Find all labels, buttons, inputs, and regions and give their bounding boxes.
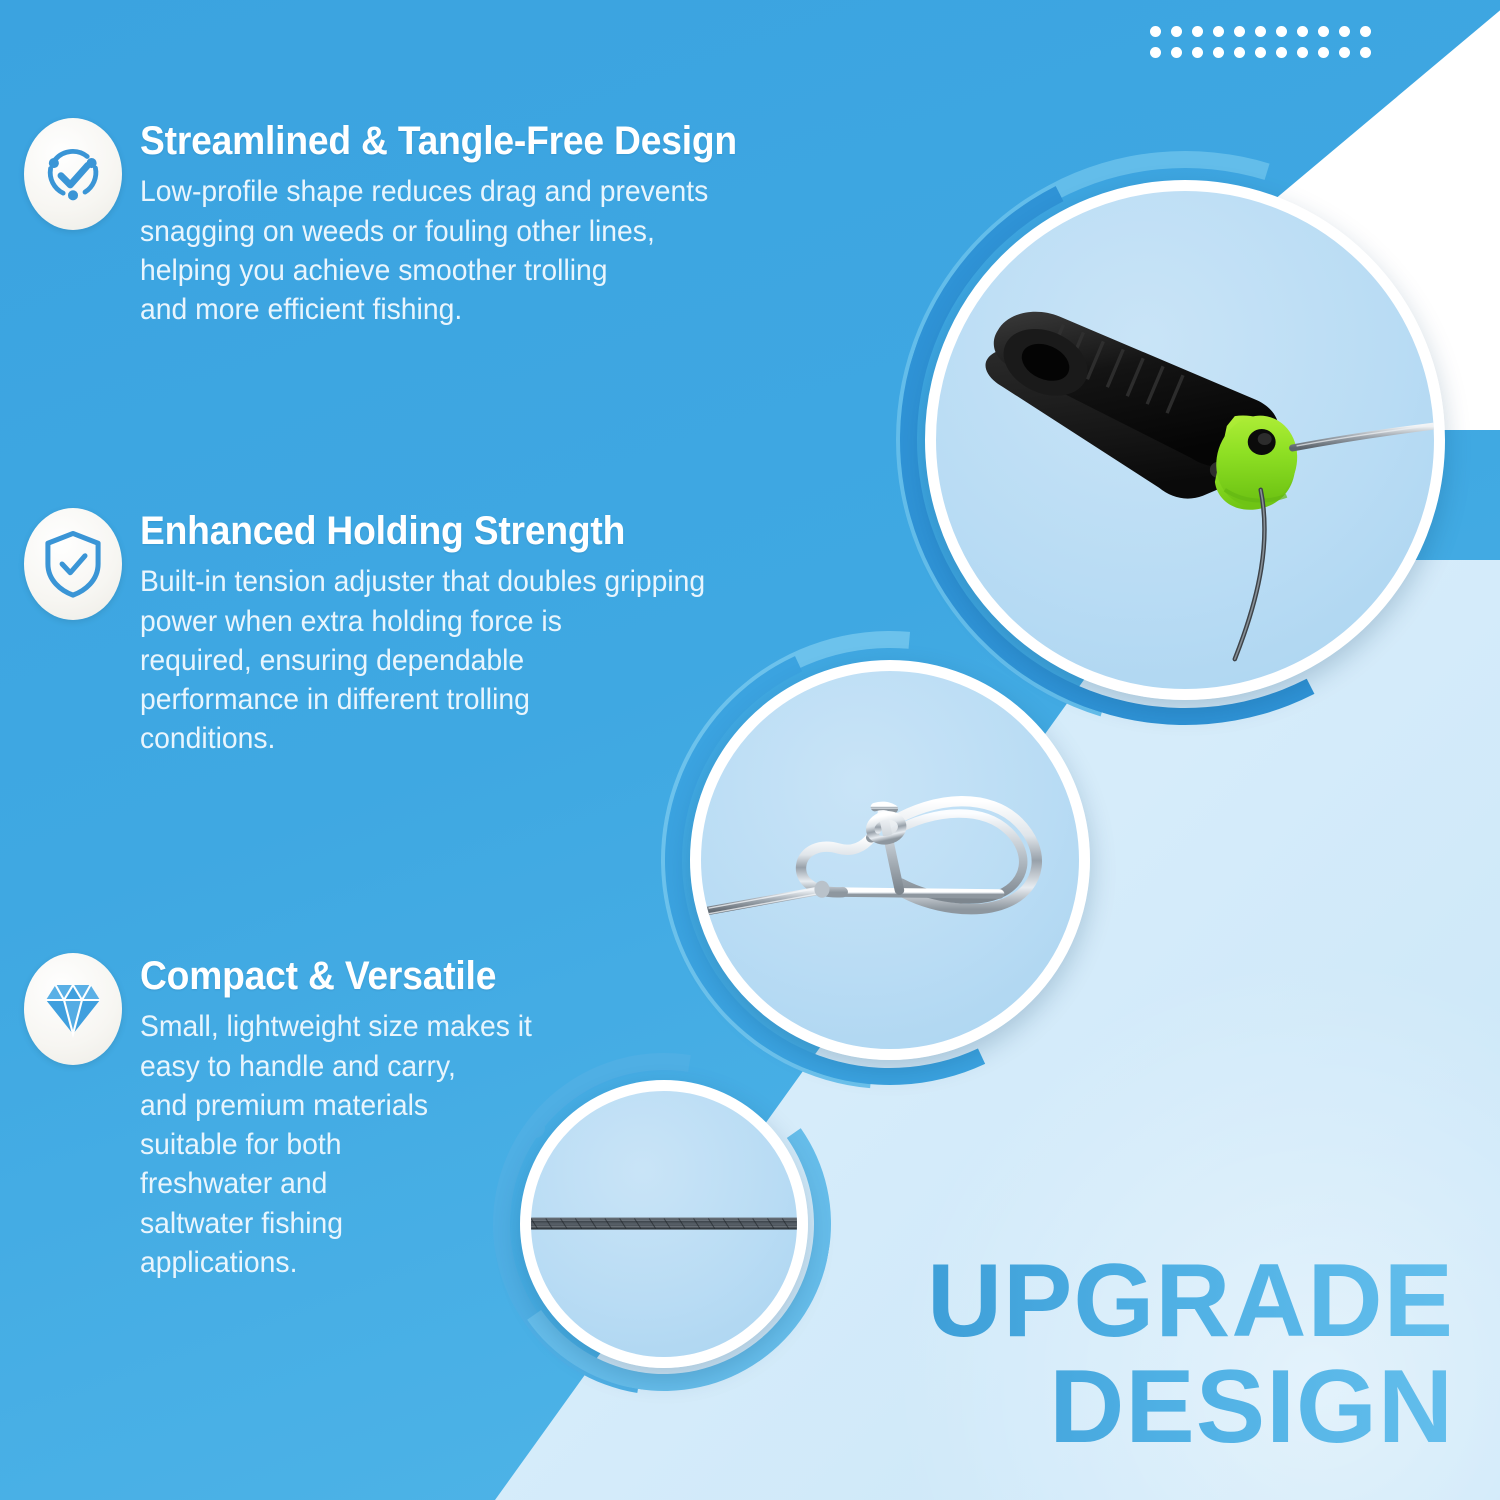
dot: [1339, 47, 1350, 58]
dot: [1276, 47, 1287, 58]
dot: [1213, 47, 1224, 58]
dot: [1318, 26, 1329, 37]
feature-text-compact-versatile: Compact & Versatile Small, lightweight s…: [140, 953, 684, 1282]
dot: [1234, 47, 1245, 58]
dot: [1192, 47, 1203, 58]
diamond-icon: [24, 953, 122, 1065]
feature-body: Low-profile shape reduces drag and preve…: [140, 172, 854, 329]
headline-line-1: UPGRADE: [927, 1252, 1454, 1352]
dot: [1150, 47, 1161, 58]
feature-text-streamlined: Streamlined & Tangle-Free Design Low-pro…: [140, 118, 884, 329]
shield-check-icon: [24, 508, 122, 620]
feature-block-streamlined: Streamlined & Tangle-Free Design Low-pro…: [24, 118, 884, 329]
dot: [1171, 47, 1182, 58]
dot: [1255, 47, 1266, 58]
dot: [1318, 47, 1329, 58]
headline-line-2: DESIGN: [927, 1358, 1454, 1458]
dot-grid-decoration: [1150, 26, 1381, 68]
dot: [1297, 47, 1308, 58]
feature-block-holding-strength: Enhanced Holding Strength Built-in tensi…: [24, 508, 864, 759]
dot: [1276, 26, 1287, 37]
dot: [1192, 26, 1203, 37]
dot: [1255, 26, 1266, 37]
feature-body: Built-in tension adjuster that doubles g…: [140, 562, 835, 758]
dot: [1297, 26, 1308, 37]
dot: [1339, 26, 1350, 37]
feature-text-holding-strength: Enhanced Holding Strength Built-in tensi…: [140, 508, 864, 759]
dot: [1234, 26, 1245, 37]
feature-block-compact-versatile: Compact & Versatile Small, lightweight s…: [24, 953, 684, 1282]
feature-title: Compact & Versatile: [140, 955, 646, 997]
network-check-icon: [24, 118, 122, 230]
headline-upgrade-design: UPGRADE DESIGN: [927, 1252, 1454, 1458]
feature-title: Streamlined & Tangle-Free Design: [140, 120, 832, 162]
dot: [1213, 26, 1224, 37]
product-infographic: Streamlined & Tangle-Free Design Low-pro…: [0, 0, 1500, 1500]
dot: [1171, 26, 1182, 37]
dot: [1150, 26, 1161, 37]
dot: [1360, 26, 1371, 37]
feature-title: Enhanced Holding Strength: [140, 510, 813, 552]
dot: [1360, 47, 1371, 58]
release-clip-photo: [925, 180, 1445, 700]
feature-body: Small, lightweight size makes it easy to…: [140, 1007, 662, 1282]
